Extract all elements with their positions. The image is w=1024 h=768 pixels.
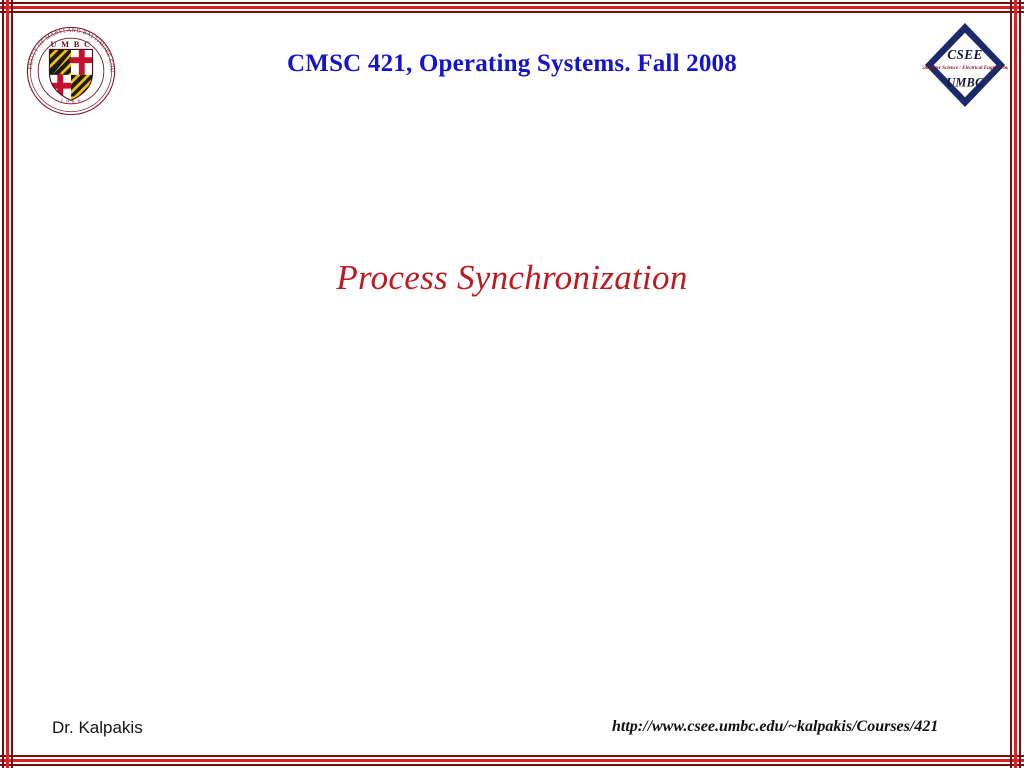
border-right-dark-outer bbox=[1019, 0, 1021, 768]
border-right-bright bbox=[1014, 0, 1017, 768]
border-left-dark-outer bbox=[2, 0, 4, 768]
border-left-bright bbox=[6, 0, 9, 768]
border-top-bright bbox=[0, 6, 1024, 9]
slide-title: Process Synchronization bbox=[0, 258, 1024, 298]
border-top-dark-outer bbox=[0, 2, 1024, 4]
border-top-dark-inner bbox=[0, 11, 1024, 13]
course-header-title: CMSC 421, Operating Systems. Fall 2008 bbox=[0, 50, 1024, 78]
svg-text:U M B C: U M B C bbox=[51, 40, 92, 49]
border-right-dark-inner bbox=[1010, 0, 1012, 768]
svg-text:CSEE: CSEE bbox=[947, 47, 982, 62]
border-bottom-dark-outer bbox=[0, 764, 1024, 766]
border-left-dark-inner bbox=[11, 0, 13, 768]
slide-content-body bbox=[60, 330, 964, 690]
footer-author: Dr. Kalpakis bbox=[52, 718, 143, 738]
csee-diamond-logo-icon: CSEE Computer Science / Electrical Engin… bbox=[922, 20, 1008, 110]
svg-text:Computer Science / Electrical: Computer Science / Electrical Engineerin… bbox=[922, 65, 1008, 71]
presentation-slide: UNIVERSITY OF MARYLAND BALTIMORE COUNTY … bbox=[0, 0, 1024, 768]
border-bottom-dark-inner bbox=[0, 755, 1024, 757]
border-bottom-bright bbox=[0, 759, 1024, 762]
svg-text:UMBC: UMBC bbox=[946, 76, 984, 90]
footer-course-url[interactable]: http://www.csee.umbc.edu/~kalpakis/Cours… bbox=[612, 718, 938, 736]
